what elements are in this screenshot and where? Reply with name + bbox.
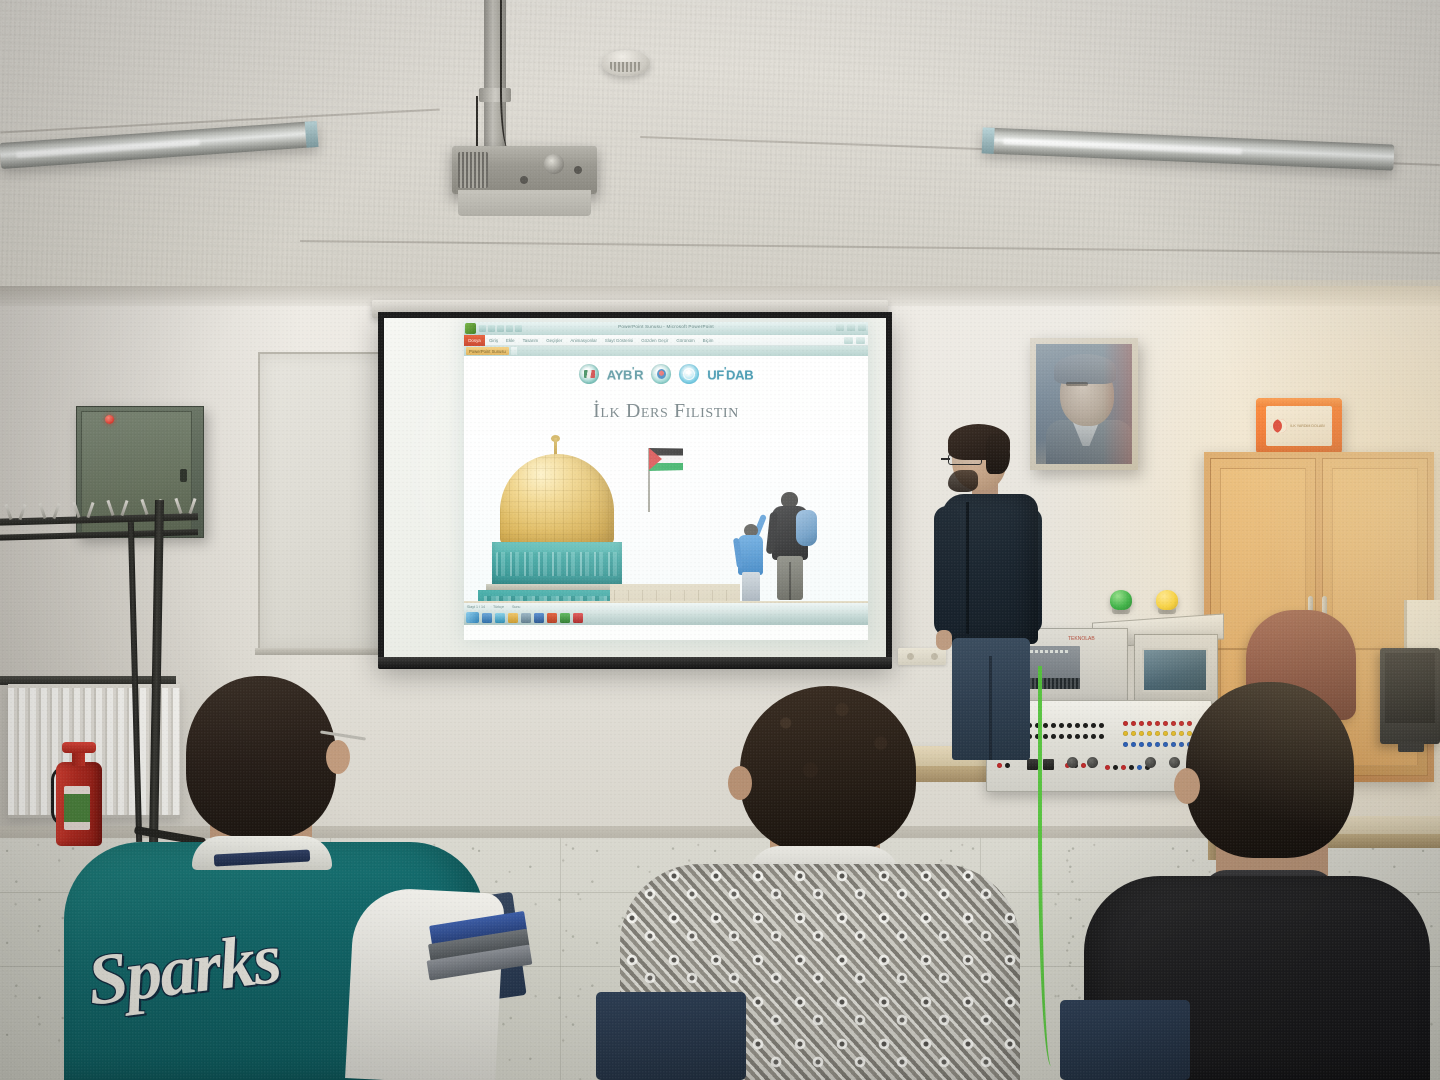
collapse-ribbon-icon[interactable] — [856, 337, 865, 344]
emergency-button-yellow[interactable] — [1156, 590, 1178, 610]
projector-lens — [544, 154, 564, 174]
tab-review[interactable]: Gözden Geçir — [637, 338, 672, 343]
projector-knob — [520, 176, 528, 184]
minimize-icon[interactable] — [836, 324, 844, 331]
projector-base — [458, 190, 591, 216]
banana-jack[interactable] — [1075, 723, 1080, 728]
child-legs — [742, 572, 760, 602]
coat-hook[interactable] — [108, 500, 126, 516]
ufdab-logo-icon — [679, 364, 699, 384]
student-left: Sparks — [64, 676, 484, 1080]
tab-transitions[interactable]: Geçişler — [542, 338, 566, 343]
excel-icon[interactable] — [560, 613, 570, 623]
banana-jack[interactable] — [1083, 734, 1088, 739]
light-end-cap — [305, 121, 319, 148]
folder-icon[interactable] — [508, 613, 518, 623]
power-indicator-led — [105, 415, 114, 424]
portrait-color-wash — [1103, 344, 1132, 464]
floor-tile-seam — [560, 838, 561, 1080]
slide-figure-adult — [770, 492, 810, 598]
trainer-brand-label: TEKNOLAB — [1068, 636, 1095, 642]
projection-screen-surface: PowerPoint Sunusu - Microsoft PowerPoint… — [384, 318, 886, 658]
window-controls[interactable] — [836, 324, 866, 331]
student-left-head — [186, 676, 336, 838]
powerpoint-status-bar: Slayt 1 / 14 Türkçe Sunu — [464, 603, 868, 610]
presenter-left-arm — [934, 506, 960, 636]
relay-block[interactable] — [1027, 759, 1038, 770]
backpack — [796, 510, 817, 546]
first-aid-text: İLK YARDIM DOLABI — [1290, 424, 1324, 428]
aybir-logo-text: AYB'R — [607, 366, 644, 382]
light-end-cap — [982, 127, 995, 153]
plc-led — [1060, 650, 1063, 653]
meb-logo-icon — [651, 364, 671, 384]
slide-logo-row: AYB'R UF'DAB — [464, 364, 868, 384]
plc-led — [1050, 650, 1053, 653]
browser-icon[interactable] — [495, 613, 505, 623]
adult-legs — [777, 556, 803, 600]
presenter-hand — [936, 630, 952, 650]
rotary-knob[interactable] — [1067, 757, 1078, 768]
first-aid-box[interactable]: İLK YARDIM DOLABI — [1256, 398, 1342, 454]
child-body — [738, 535, 763, 575]
ribbon-help-group[interactable] — [844, 337, 868, 344]
flag-red-triangle — [649, 448, 662, 470]
portrait-image — [1036, 344, 1132, 464]
tab-format[interactable]: Biçim — [699, 338, 718, 343]
slide-canvas[interactable]: AYB'R UF'DAB İlk Ders Filistin — [464, 356, 868, 625]
tab-animations[interactable]: Animasyonlar — [566, 338, 601, 343]
projector-cable — [500, 0, 522, 150]
window-titlebar: PowerPoint Sunusu - Microsoft PowerPoint — [464, 322, 868, 335]
red-crescent-icon — [1273, 419, 1287, 433]
status-language: Türkçe — [493, 605, 504, 609]
banana-jack[interactable] — [1075, 734, 1080, 739]
media-icon[interactable] — [521, 613, 531, 623]
presenter-hair-side — [986, 434, 1010, 474]
tab-insert[interactable]: Ekle — [502, 338, 519, 343]
tab-design[interactable]: Tasarım — [519, 338, 543, 343]
plc-led — [1055, 650, 1058, 653]
student-right-ear — [1174, 768, 1200, 804]
plc-led — [1065, 650, 1068, 653]
coat-hook[interactable] — [74, 502, 92, 518]
windows-taskbar[interactable] — [464, 610, 868, 625]
outline-tabstrip[interactable]: PowerPoint Sunusu — [464, 346, 868, 356]
powerpoint-icon[interactable] — [547, 613, 557, 623]
dome-drum — [492, 542, 622, 586]
chair-seat-right[interactable] — [1060, 1000, 1190, 1080]
status-theme: Sunu — [512, 605, 520, 609]
tab-view[interactable]: Görünüm — [672, 338, 698, 343]
projection-screen-weight-bar — [378, 657, 892, 669]
status-slide-number: Slayt 1 / 14 — [467, 605, 485, 609]
student-left-ear — [326, 740, 350, 774]
student-center-ear — [728, 766, 752, 800]
outlet-socket[interactable] — [907, 653, 914, 660]
tab-home[interactable]: Giriş — [485, 338, 502, 343]
window-title: PowerPoint Sunusu - Microsoft PowerPoint — [464, 324, 868, 329]
help-icon[interactable] — [844, 337, 853, 344]
presenter-shirt-placket — [966, 502, 969, 634]
coat-hook[interactable] — [40, 503, 58, 519]
coat-hook[interactable] — [176, 498, 194, 514]
banana-jack[interactable] — [1083, 723, 1088, 728]
outline-dropdown-icon[interactable] — [511, 347, 517, 355]
projector-knob — [574, 166, 582, 174]
slide-photo — [464, 434, 868, 625]
powerpoint-window[interactable]: PowerPoint Sunusu - Microsoft PowerPoint… — [464, 322, 868, 640]
restore-icon[interactable] — [847, 324, 855, 331]
presenter-beard — [948, 470, 978, 492]
close-icon[interactable] — [858, 324, 866, 331]
outline-tab[interactable]: PowerPoint Sunusu — [466, 347, 509, 355]
ufdab-logo-text: UF'DAB — [707, 366, 753, 382]
smoke-detector — [602, 50, 650, 76]
slide-title: İlk Ders Filistin — [464, 400, 868, 423]
student-center-hair — [740, 686, 916, 854]
panel-latch[interactable] — [180, 469, 187, 482]
start-button[interactable] — [466, 612, 479, 623]
tab-file[interactable]: Dosya — [464, 335, 485, 346]
student-right-head — [1186, 682, 1354, 858]
banana-jack[interactable] — [1067, 734, 1072, 739]
banana-jack[interactable] — [1081, 763, 1086, 768]
first-aid-label: İLK YARDIM DOLABI — [1266, 406, 1332, 446]
emergency-button-green[interactable] — [1110, 590, 1132, 610]
portrait-brow — [1066, 382, 1088, 386]
coat-hook[interactable] — [6, 504, 24, 520]
pdf-icon[interactable] — [573, 613, 583, 623]
aybir-logo-icon — [579, 364, 599, 384]
explorer-icon[interactable] — [482, 613, 492, 623]
chair-seat-center[interactable] — [596, 992, 746, 1080]
projector-vent — [458, 152, 488, 188]
classroom-photo: PowerPoint Sunusu - Microsoft PowerPoint… — [0, 0, 1440, 1080]
slide-figure-child — [736, 520, 766, 602]
banana-jack[interactable] — [1067, 723, 1072, 728]
tab-slideshow[interactable]: Slayt Gösterisi — [601, 338, 637, 343]
word-icon[interactable] — [534, 613, 544, 623]
laptop-stack — [429, 911, 535, 995]
ribbon-tabstrip[interactable]: Dosya Giriş Ekle Tasarım Geçişler Animas… — [464, 335, 868, 346]
